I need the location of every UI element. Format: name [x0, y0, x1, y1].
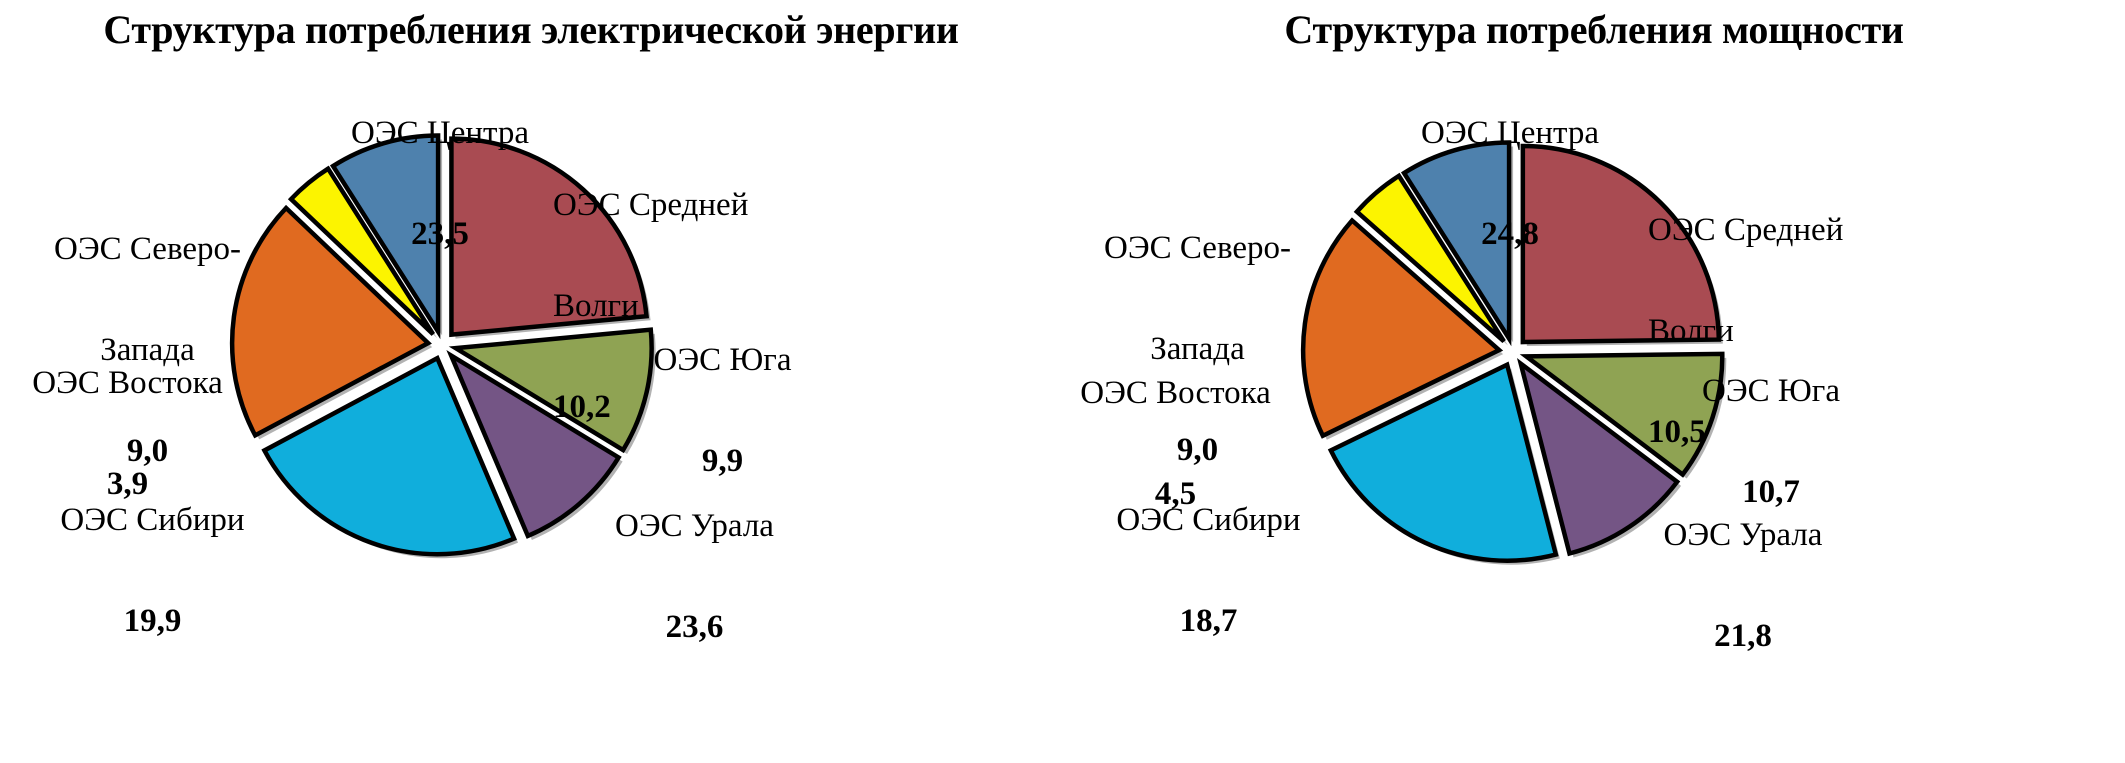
left-label-siberia-value: 19,9: [55, 605, 250, 639]
left-label-ural-value: 23,6: [602, 611, 787, 645]
left-label-northwest-value: 9,0: [45, 435, 250, 469]
pie-chart-power: Структура потребления мощности ОЭС Центр…: [1063, 0, 2125, 763]
left-label-ural: ОЭС Урала 23,6: [602, 443, 787, 712]
right-label-siberia-value: 18,7: [1111, 605, 1306, 639]
right-label-northwest-value: 9,0: [1095, 434, 1300, 468]
left-label-volga-name-line1: ОЭС Средней: [553, 189, 783, 223]
left-label-ural-name: ОЭС Урала: [602, 510, 787, 544]
right-label-volga-name-line1: ОЭС Средней: [1648, 214, 1888, 248]
left-label-centre: ОЭС Центра 23,5: [300, 50, 580, 319]
left-label-south-name: ОЭС Юга: [640, 344, 805, 378]
right-label-ural-value: 21,8: [1648, 620, 1838, 654]
left-label-northwest-name-line2: Запада: [45, 334, 250, 368]
left-label-northwest-name-line1: ОЭС Северо-: [45, 233, 250, 267]
right-label-centre-value: 24,8: [1370, 218, 1650, 252]
right-label-centre-name: ОЭС Центра: [1370, 117, 1650, 151]
right-label-centre: ОЭС Центра 24,8: [1370, 50, 1650, 319]
right-label-northwest-name-line1: ОЭС Северо-: [1095, 232, 1300, 266]
right-label-ural-name: ОЭС Урала: [1648, 519, 1838, 553]
left-label-centre-name: ОЭС Центра: [300, 117, 580, 151]
left-label-centre-value: 23,5: [300, 218, 580, 252]
right-label-northwest-name-line2: Запада: [1095, 333, 1300, 367]
chart-canvas: Структура потребления электрической энер…: [0, 0, 2125, 763]
right-label-northwest: ОЭС Северо- Запада 9,0: [1095, 165, 1300, 535]
right-label-ural: ОЭС Урала 21,8: [1648, 452, 1838, 721]
pie-chart-electric-energy: Структура потребления электрической энер…: [0, 0, 1062, 763]
right-label-south-name: ОЭС Юга: [1681, 375, 1861, 409]
left-label-northwest: ОЭС Северо- Запада 9,0: [45, 166, 250, 536]
